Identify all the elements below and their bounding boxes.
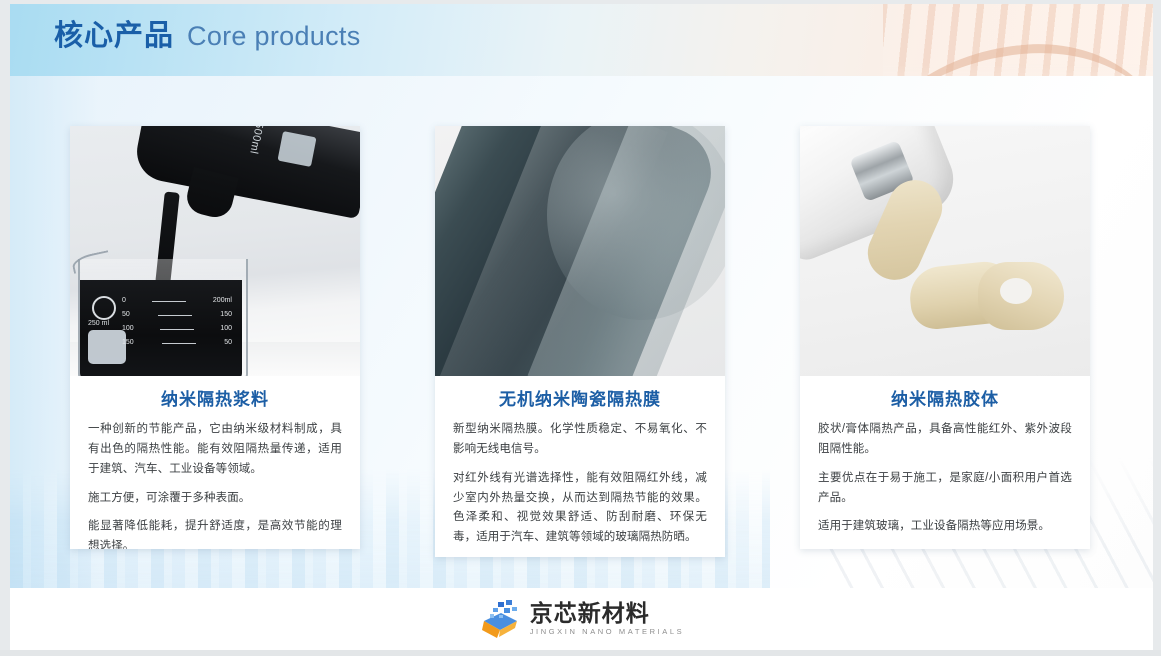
product-paragraph: 能显著降低能耗，提升舒适度，是高效节能的理想选择。: [88, 517, 342, 549]
product-title: 纳米隔热胶体: [818, 390, 1072, 410]
product-card-body: 无机纳米陶瓷隔热膜 新型纳米隔热膜。化学性质稳定、不易氧化、不影响无线电信号。 …: [435, 376, 725, 557]
product-paragraph: 新型纳米隔热膜。化学性质稳定、不易氧化、不影响无线电信号。: [453, 420, 707, 460]
product-card-body: 纳米隔热浆料 一种创新的节能产品，它由纳米级材料制成，具有出色的隔热性能。能有效…: [70, 376, 360, 549]
jingxin-logo-icon: [479, 599, 521, 639]
company-name-cn: 京芯新材料: [530, 602, 685, 625]
product-card[interactable]: 无机纳米陶瓷隔热膜 新型纳米隔热膜。化学性质稳定、不易氧化、不影响无线电信号。 …: [435, 126, 725, 557]
beaker-scale: 0200ml 50150 100100 15050: [122, 294, 232, 350]
product-paragraph: 一种创新的节能产品，它由纳米级材料制成，具有出色的隔热性能。能有效阻隔热量传递，…: [88, 420, 342, 479]
page-title-en: Core products: [187, 23, 360, 50]
product-paragraph: 施工方便，可涂覆于多种表面。: [88, 489, 342, 509]
company-logo: 京芯新材料 JINGXIN NANO MATERIALS: [479, 599, 685, 639]
product-image-insulation-paste: [800, 126, 1090, 376]
product-paragraph: 主要优点在于易于施工，是家庭/小面积用户首选产品。: [818, 469, 1072, 509]
slide-footer: 京芯新材料 JINGXIN NANO MATERIALS: [10, 588, 1153, 650]
product-paragraph: 适用于建筑玻璃，工业设备隔热等应用场景。: [818, 517, 1072, 537]
product-card[interactable]: 纳米隔热胶体 胶状/膏体隔热产品，具备高性能红外、紫外波段阻隔性能。 主要优点在…: [800, 126, 1090, 549]
product-paragraph: 胶状/膏体隔热产品，具备高性能红外、紫外波段阻隔性能。: [818, 420, 1072, 460]
frame-right-border: [1153, 0, 1161, 656]
product-card[interactable]: 500ml 250 ml 0200ml 50150 100100: [70, 126, 360, 549]
product-card-list: 500ml 250 ml 0200ml 50150 100100: [10, 76, 1153, 588]
company-name-en: JINGXIN NANO MATERIALS: [530, 628, 685, 636]
product-image-ceramic-film: [435, 126, 725, 376]
slide: 核心产品 Core products 500ml: [0, 0, 1161, 656]
content-stage: 500ml 250 ml 0200ml 50150 100100: [10, 76, 1153, 588]
frame-left-border: [0, 0, 10, 656]
product-title: 纳米隔热浆料: [88, 390, 342, 410]
product-paragraph: 对红外线有光谱选择性，能有效阻隔红外线，减少室内外热量交换，从而达到隔热节能的效…: [453, 469, 707, 548]
product-image-nano-slurry: 500ml 250 ml 0200ml 50150 100100: [70, 126, 360, 376]
beaker-volume-label: 250 ml: [88, 320, 109, 327]
slide-header: 核心产品 Core products: [10, 4, 1153, 76]
product-card-body: 纳米隔热胶体 胶状/膏体隔热产品，具备高性能红外、紫外波段阻隔性能。 主要优点在…: [800, 376, 1090, 549]
page-title-cn: 核心产品: [54, 22, 174, 51]
frame-bottom-border: [0, 650, 1161, 656]
product-title: 无机纳米陶瓷隔热膜: [453, 390, 707, 410]
page-title: 核心产品 Core products: [54, 22, 361, 51]
